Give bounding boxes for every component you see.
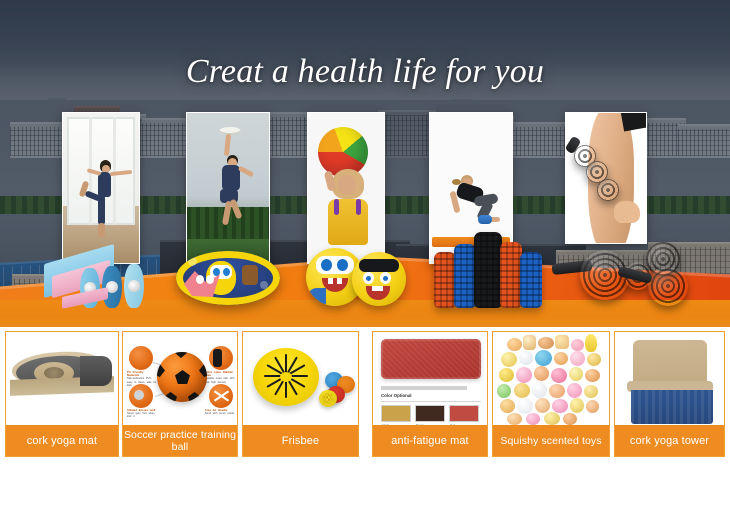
callout-body-4: Send with pump inside xyxy=(205,412,234,415)
hero-panel-calf-massage xyxy=(565,112,647,244)
callout-body-3: Never gets hurt when kick it xyxy=(127,412,155,418)
swatch-khaki xyxy=(381,405,411,422)
swatch-brown xyxy=(415,405,445,422)
callout-material xyxy=(129,346,153,370)
spec-note: Size 20" x 32" / 20" x 39" / 20" x 48" xyxy=(381,386,467,390)
footer-whitespace xyxy=(0,461,730,520)
cork-sheet-graphic xyxy=(633,340,707,386)
product-card-anti-fatigue-mat[interactable]: Size 20" x 32" / 20" x 39" / 20" x 48" C… xyxy=(372,331,488,457)
massage-tools-group xyxy=(552,236,702,308)
product-card-frisbee[interactable]: Frisbee xyxy=(242,331,359,457)
product-thumb-anti-fatigue-mat: Size 20" x 32" / 20" x 39" / 20" x 48" C… xyxy=(373,332,487,427)
product-title: Soccer practice training ball xyxy=(123,425,237,456)
page-title: Creat a health life for you xyxy=(0,52,730,92)
hand-grip xyxy=(614,201,640,223)
small-blue-roller xyxy=(478,215,492,224)
color-optional-label: Color Optional xyxy=(381,393,412,398)
soccer-ball-graphic xyxy=(157,352,207,402)
callout-body-2: Durable outer skin with real high densit… xyxy=(205,377,234,383)
product-thumb-squishy-toys xyxy=(493,332,609,427)
product-thumb-frisbee xyxy=(243,332,358,427)
product-title: anti-fatigue mat xyxy=(373,425,487,456)
cartoon-frisbee-prop xyxy=(176,251,280,305)
callout-needle xyxy=(209,384,233,408)
product-thumb-cork-yoga-mat xyxy=(6,332,118,427)
callout-bladder xyxy=(209,346,233,370)
hero-panel-basketball-boy xyxy=(307,112,385,264)
product-title: cork yoga mat xyxy=(6,425,118,456)
frisbee-graphic xyxy=(253,348,319,406)
cartoon-ball-right xyxy=(352,252,406,306)
product-card-row: cork yoga mat xyxy=(0,331,730,461)
product-thumb-soccer-ball: PU Friendly MaterialsSkin-protective PVC… xyxy=(123,332,237,427)
swatch-red xyxy=(449,405,479,422)
product-thumb-cork-yoga-tower xyxy=(615,332,724,427)
hero-panel-frisbee-jump xyxy=(186,112,270,264)
product-title: Frisbee xyxy=(243,425,358,456)
callout-body-1: Skin-protective PVC, easy to clean, safe… xyxy=(127,377,156,386)
promo-banner: Creat a health life for you xyxy=(0,0,730,520)
anti-fatigue-mat-graphic xyxy=(381,339,481,379)
product-card-cork-yoga-mat[interactable]: cork yoga mat xyxy=(5,331,119,457)
product-card-squishy-scented-toys[interactable]: Squishy scented toys xyxy=(492,331,610,457)
product-title: Squishy scented toys xyxy=(493,425,609,456)
product-card-cork-yoga-tower[interactable]: cork yoga tower xyxy=(614,331,725,457)
product-title: cork yoga tower xyxy=(615,425,724,456)
callout-inflate xyxy=(129,384,153,408)
hero-panel-yoga-pose xyxy=(62,112,140,264)
yoga-mat-rolls-group xyxy=(44,246,160,308)
foam-rollers-group xyxy=(434,230,544,308)
blue-mat-graphic xyxy=(631,390,713,424)
product-card-soccer-practice-training-ball[interactable]: PU Friendly MaterialsSkin-protective PVC… xyxy=(122,331,238,457)
